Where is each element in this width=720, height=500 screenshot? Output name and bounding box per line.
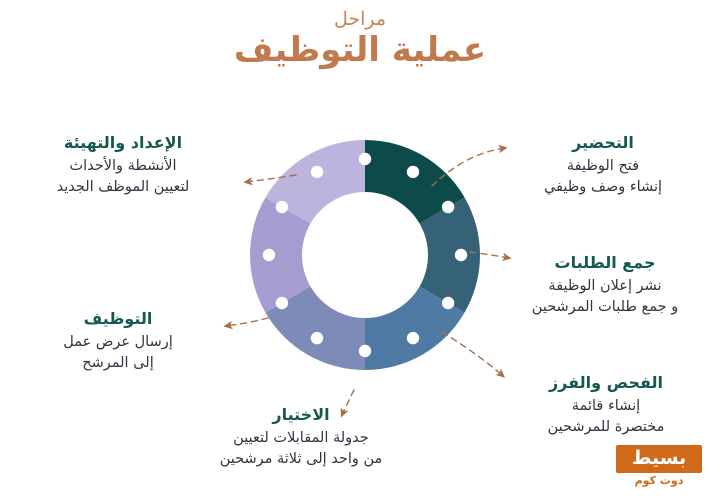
stage-desc-selection-line2: من واحد إلى ثلاثة مرشحين	[176, 449, 426, 470]
donut-dot	[311, 166, 323, 178]
page-title: مراحل عملية التوظيف	[0, 8, 720, 71]
brand-logo-subtitle: دوت كوم	[616, 474, 702, 488]
stage-label-selection: الاختيار جدولة المقابلات لتعيين من واحد …	[176, 404, 426, 470]
stage-title-hiring: التوظيف	[18, 308, 218, 330]
stage-desc-collect-applications-line1: نشر إعلان الوظيفة	[494, 276, 716, 297]
donut-dot	[263, 249, 275, 261]
stage-label-hiring: التوظيف إرسال عرض عمل إلى المرشح	[18, 308, 218, 374]
stage-label-collect-applications: جمع الطلبات نشر إعلان الوظيفة و جمع طلبا…	[494, 252, 716, 318]
donut-dot	[276, 201, 288, 213]
stage-desc-preparation-line1: فتح الوظيفة	[498, 156, 708, 177]
donut-dot	[407, 332, 419, 344]
donut-dot	[359, 345, 371, 357]
stage-title-screening: الفحص والفرز	[498, 372, 714, 394]
donut-dot	[442, 297, 454, 309]
donut-dot	[455, 249, 467, 261]
stage-desc-screening-line2: مختصرة للمرشحين	[498, 417, 714, 438]
stage-desc-collect-applications-line2: و جمع طلبات المرشحين	[494, 297, 716, 318]
stage-title-preparation: التحضير	[498, 132, 708, 154]
stage-label-screening: الفحص والفرز إنشاء قائمة مختصرة للمرشحين	[498, 372, 714, 438]
donut-segments	[250, 140, 480, 370]
stage-desc-onboarding-line1: الأنشطة والأحداث	[8, 156, 238, 177]
brand-logo: بسيط دوت كوم	[616, 445, 702, 488]
stage-label-preparation: التحضير فتح الوظيفة إنشاء وصف وظيفي	[498, 132, 708, 198]
donut-dot	[311, 332, 323, 344]
stage-title-onboarding: الإعداد والتهيئة	[8, 132, 238, 154]
stage-desc-screening-line1: إنشاء قائمة	[498, 396, 714, 417]
stage-title-collect-applications: جمع الطلبات	[494, 252, 716, 274]
stage-desc-preparation-line2: إنشاء وصف وظيفي	[498, 177, 708, 198]
stage-label-onboarding: الإعداد والتهيئة الأنشطة والأحداث لتعيين…	[8, 132, 238, 198]
brand-logo-badge: بسيط	[616, 445, 702, 473]
title-line-1: مراحل	[0, 8, 720, 31]
stage-desc-onboarding-line2: لتعيين الموظف الجديد	[8, 177, 238, 198]
donut-chart	[250, 140, 480, 370]
donut-dot	[359, 153, 371, 165]
stage-desc-selection-line1: جدولة المقابلات لتعيين	[176, 428, 426, 449]
infographic-canvas: مراحل عملية التوظيف	[0, 0, 720, 500]
stage-desc-hiring-line1: إرسال عرض عمل	[18, 332, 218, 353]
stage-desc-hiring-line2: إلى المرشح	[18, 353, 218, 374]
donut-dot	[276, 297, 288, 309]
donut-dot	[407, 166, 419, 178]
donut-chart-svg	[250, 140, 480, 370]
title-line-2: عملية التوظيف	[0, 29, 720, 71]
stage-title-selection: الاختيار	[176, 404, 426, 426]
donut-dot	[442, 201, 454, 213]
